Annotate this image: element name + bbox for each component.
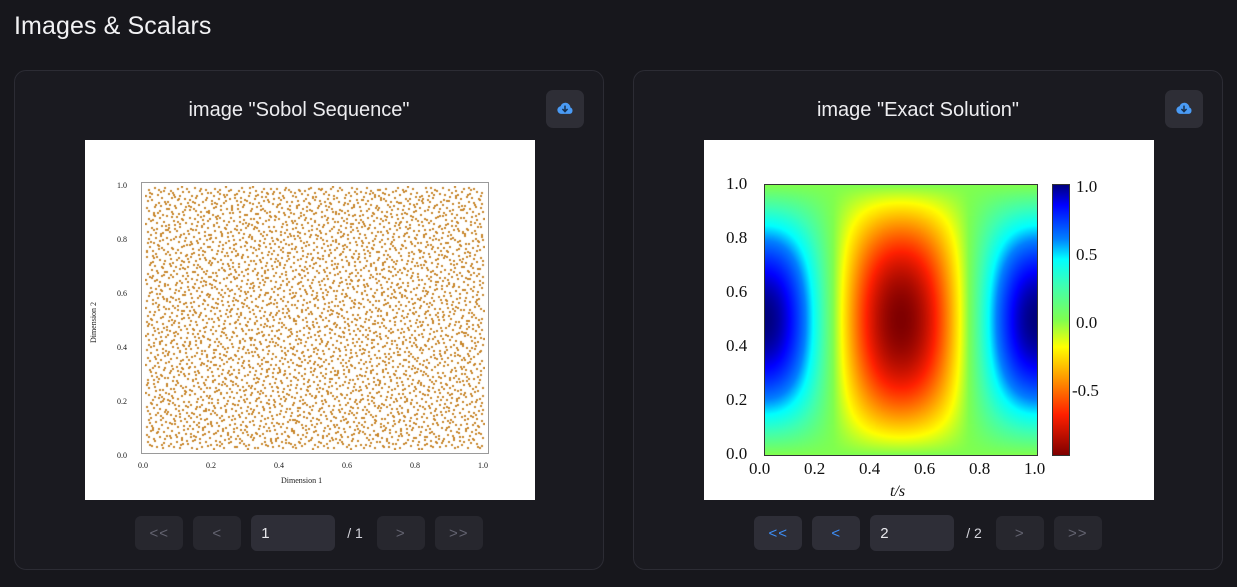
- download-button[interactable]: [546, 90, 584, 128]
- colorbar-tick-label: 1.0: [1076, 177, 1097, 197]
- x-axis-label: t/s: [890, 483, 905, 500]
- card-header: image "Exact Solution": [634, 71, 1222, 147]
- x-tick-label: 0.4: [274, 461, 284, 470]
- y-tick-label: 1.0: [726, 174, 747, 194]
- colorbar-tick-label: 0.0: [1076, 313, 1097, 333]
- card-title: image "Exact Solution": [684, 99, 1152, 122]
- colorbar-tick-label: -0.5: [1072, 381, 1099, 401]
- figure-sobol-scatter: 1.0 0.8 0.6 0.4 0.2 0.0 0.0 0.2 0.4 0.6 …: [85, 140, 535, 500]
- pagination-controls: << < / 1 > >>: [15, 515, 603, 551]
- y-tick-label: 0.2: [117, 397, 127, 406]
- y-tick-label: 0.0: [117, 451, 127, 460]
- y-tick-label: 0.6: [726, 282, 747, 302]
- app-root: Images & Scalars image "Sobol Sequence": [0, 0, 1237, 587]
- y-tick-label: 0.0: [726, 444, 747, 464]
- page-total-label: / 1: [347, 525, 363, 541]
- x-tick-label: 0.2: [206, 461, 216, 470]
- card-header: image "Sobol Sequence": [15, 71, 603, 147]
- image-card-exact-solution: image "Exact Solution" 1.0 0.5: [633, 70, 1223, 570]
- colorbar: [1052, 184, 1070, 456]
- x-tick-label: 0.0: [138, 461, 148, 470]
- x-tick-label: 0.2: [804, 459, 825, 479]
- page-number-input[interactable]: [870, 515, 954, 551]
- x-tick-label: 0.8: [969, 459, 990, 479]
- y-tick-label: 0.8: [117, 235, 127, 244]
- x-tick-label: 0.4: [859, 459, 880, 479]
- y-tick-label: 0.8: [726, 228, 747, 248]
- image-viewport-sobol[interactable]: 1.0 0.8 0.6 0.4 0.2 0.0 0.0 0.2 0.4 0.6 …: [85, 140, 535, 500]
- cloud-download-icon: [555, 99, 575, 119]
- y-tick-label: 0.2: [726, 390, 747, 410]
- y-tick-label: 0.6: [117, 289, 127, 298]
- x-tick-label: 1.0: [1024, 459, 1045, 479]
- colorbar-tick-label: 0.5: [1076, 245, 1097, 265]
- last-page-button[interactable]: >>: [1054, 516, 1102, 550]
- figure-exact-solution-heatmap: 1.0 0.5 0.0 -0.5 1.0 0.8 0.6 0.4 0.2 0.0…: [704, 140, 1154, 500]
- x-tick-label: 0.0: [749, 459, 770, 479]
- pagination-controls: << < / 2 > >>: [634, 515, 1222, 551]
- prev-page-button[interactable]: <: [193, 516, 241, 550]
- page-number-input[interactable]: [251, 515, 335, 551]
- y-tick-label: 0.4: [726, 336, 747, 356]
- image-viewport-exact-solution[interactable]: 1.0 0.5 0.0 -0.5 1.0 0.8 0.6 0.4 0.2 0.0…: [704, 140, 1154, 500]
- card-title: image "Sobol Sequence": [65, 99, 533, 122]
- cloud-download-icon: [1174, 99, 1194, 119]
- image-card-sobol-sequence: image "Sobol Sequence" 1.0 0.8: [14, 70, 604, 570]
- x-tick-label: 1.0: [478, 461, 488, 470]
- page-title: Images & Scalars: [14, 12, 212, 41]
- y-tick-label: 1.0: [117, 181, 127, 190]
- y-axis-label: Dimension 2: [89, 302, 98, 343]
- download-button[interactable]: [1165, 90, 1203, 128]
- y-tick-label: 0.4: [117, 343, 127, 352]
- page-total-label: / 2: [966, 525, 982, 541]
- x-tick-label: 0.8: [410, 461, 420, 470]
- last-page-button[interactable]: >>: [435, 516, 483, 550]
- x-tick-label: 0.6: [342, 461, 352, 470]
- prev-page-button[interactable]: <: [812, 516, 860, 550]
- x-tick-label: 0.6: [914, 459, 935, 479]
- x-axis-label: Dimension 1: [281, 476, 322, 485]
- first-page-button[interactable]: <<: [754, 516, 802, 550]
- scatter-points: [145, 186, 485, 450]
- next-page-button[interactable]: >: [377, 516, 425, 550]
- heatmap-image: [764, 184, 1038, 456]
- y-axis-label: x/m: [704, 307, 709, 330]
- next-page-button[interactable]: >: [996, 516, 1044, 550]
- first-page-button[interactable]: <<: [135, 516, 183, 550]
